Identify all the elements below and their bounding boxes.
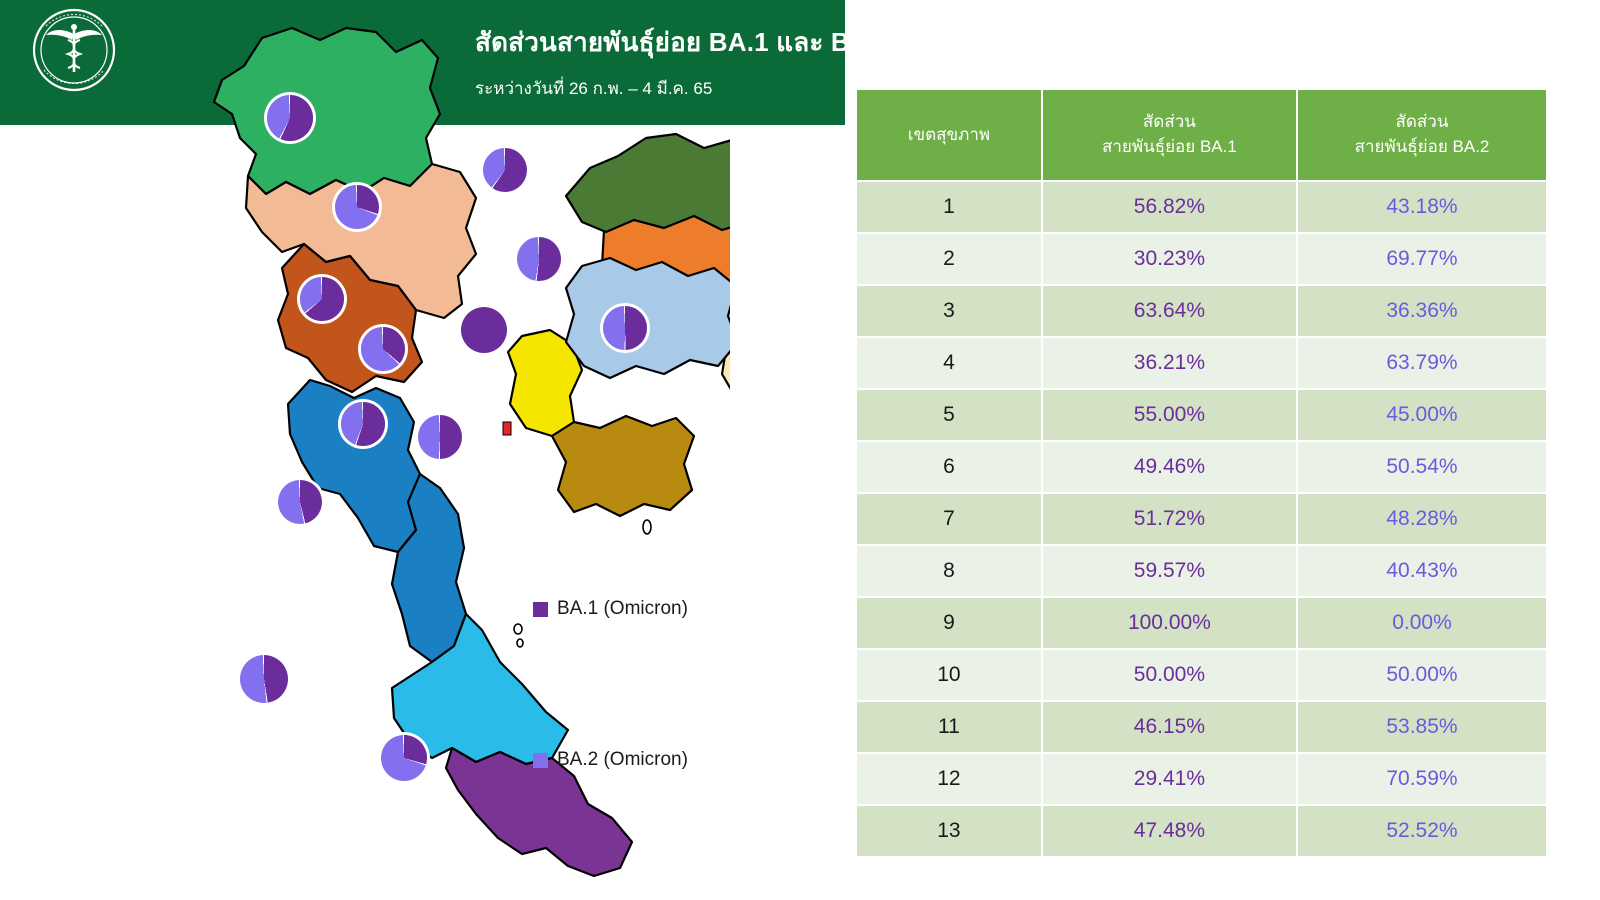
table-cell-zone: 7 (857, 494, 1041, 544)
pie-marker-zone-13 (240, 655, 288, 703)
slide-root: กรมวิทยาศาสตร์การแพทย์ Department of Med… (0, 0, 1600, 900)
table-row: 555.00%45.00% (857, 390, 1546, 440)
map-marker-red (503, 422, 511, 435)
table-cell-zone: 12 (857, 754, 1041, 804)
table-cell-zone: 9 (857, 598, 1041, 648)
pie-marker-zone-10 (418, 415, 462, 459)
map-island-1 (514, 624, 522, 634)
date-range-subtitle: ระหว่างวันที่ 26 ก.พ. – 4 มี.ค. 65 (475, 75, 1595, 102)
table-cell-zone: 2 (857, 234, 1041, 284)
table-cell-ba1: 63.64% (1043, 286, 1296, 336)
table-header-zone: เขตสุขภาพ (857, 90, 1041, 180)
table-header-ba2-line1: สัดส่วน (1302, 110, 1542, 135)
legend-item-ba1: BA.1 (Omicron) (533, 598, 688, 620)
title-block: สัดส่วนสายพันธุ์ย่อย BA.1 และ BA.2 แยกตา… (475, 22, 1595, 102)
table-row: 1146.15%53.85% (857, 702, 1546, 752)
table-row: 156.82%43.18% (857, 182, 1546, 232)
ministry-logo (10, 4, 138, 120)
pie-marker-zone-3 (300, 277, 344, 321)
table-cell-ba2: 43.18% (1298, 182, 1546, 232)
table-row: 1050.00%50.00% (857, 650, 1546, 700)
map-region-zone-9 (566, 258, 730, 378)
table-cell-ba1: 51.72% (1043, 494, 1296, 544)
table-cell-ba1: 59.57% (1043, 546, 1296, 596)
map-region-zone-1 (214, 28, 440, 194)
table-cell-zone: 1 (857, 182, 1041, 232)
table-cell-zone: 13 (857, 806, 1041, 856)
table-cell-ba2: 50.54% (1298, 442, 1546, 492)
pie-marker-zone-5 (341, 402, 385, 446)
table-row: 1229.41%70.59% (857, 754, 1546, 804)
table-header-ba2-line2: สายพันธุ์ย่อย BA.2 (1302, 135, 1542, 160)
map-island-2 (517, 639, 523, 647)
table-cell-zone: 5 (857, 390, 1041, 440)
table-row: 859.57%40.43% (857, 546, 1546, 596)
table-cell-zone: 8 (857, 546, 1041, 596)
table-header-ba1-line2: สายพันธุ์ย่อย BA.1 (1047, 135, 1292, 160)
table-header-ba2: สัดส่วน สายพันธุ์ย่อย BA.2 (1298, 90, 1546, 180)
pie-marker-zone-8 (483, 148, 527, 192)
table-cell-zone: 11 (857, 702, 1041, 752)
table-cell-zone: 4 (857, 338, 1041, 388)
pie-marker-zone-6 (603, 306, 647, 350)
table-cell-ba1: 36.21% (1043, 338, 1296, 388)
table-cell-ba2: 52.52% (1298, 806, 1546, 856)
table-cell-zone: 6 (857, 442, 1041, 492)
table-cell-ba1: 55.00% (1043, 390, 1296, 440)
table-cell-ba1: 56.82% (1043, 182, 1296, 232)
table-header-row: เขตสุขภาพ สัดส่วน สายพันธุ์ย่อย BA.1 สัด… (857, 90, 1546, 180)
table-cell-ba1: 100.00% (1043, 598, 1296, 648)
table-row: 363.64%36.36% (857, 286, 1546, 336)
legend-label-ba2: BA.2 (Omicron) (557, 749, 688, 771)
pie-marker-zone-12 (381, 735, 427, 781)
pie-marker-zone-9 (461, 307, 507, 353)
table-cell-ba2: 53.85% (1298, 702, 1546, 752)
table-cell-ba1: 47.48% (1043, 806, 1296, 856)
table-cell-ba1: 50.00% (1043, 650, 1296, 700)
proportion-table: เขตสุขภาพ สัดส่วน สายพันธุ์ย่อย BA.1 สัด… (855, 88, 1548, 858)
table-cell-ba1: 29.41% (1043, 754, 1296, 804)
pie-marker-zone-2 (335, 185, 379, 229)
table-body: 156.82%43.18%230.23%69.77%363.64%36.36%4… (857, 182, 1546, 856)
map-region-zone-8 (566, 134, 730, 234)
table-cell-ba2: 45.00% (1298, 390, 1546, 440)
legend-swatch-ba1 (533, 602, 548, 617)
map-region-zone-10 (552, 416, 694, 516)
table-row: 751.72%48.28% (857, 494, 1546, 544)
table-row: 649.46%50.54% (857, 442, 1546, 492)
legend-label-ba1: BA.1 (Omicron) (557, 598, 688, 620)
table-cell-ba2: 70.59% (1298, 754, 1546, 804)
table-row: 9100.00%0.00% (857, 598, 1546, 648)
table-cell-ba1: 30.23% (1043, 234, 1296, 284)
page-title: สัดส่วนสายพันธุ์ย่อย BA.1 และ BA.2 แยกตา… (475, 22, 1595, 63)
table-header-ba1: สัดส่วน สายพันธุ์ย่อย BA.1 (1043, 90, 1296, 180)
table-row: 230.23%69.77% (857, 234, 1546, 284)
pie-marker-zone-7 (517, 237, 561, 281)
table-cell-ba2: 36.36% (1298, 286, 1546, 336)
table-cell-ba2: 63.79% (1298, 338, 1546, 388)
table-cell-ba1: 46.15% (1043, 702, 1296, 752)
table-cell-ba2: 48.28% (1298, 494, 1546, 544)
table-row: 1347.48%52.52% (857, 806, 1546, 856)
table-cell-ba1: 49.46% (1043, 442, 1296, 492)
legend-item-ba2: BA.2 (Omicron) (533, 749, 688, 771)
proportion-table-wrapper: เขตสุขภาพ สัดส่วน สายพันธุ์ย่อย BA.1 สัด… (855, 88, 1548, 858)
table-row: 436.21%63.79% (857, 338, 1546, 388)
table-cell-ba2: 0.00% (1298, 598, 1546, 648)
table-cell-ba2: 69.77% (1298, 234, 1546, 284)
table-cell-zone: 10 (857, 650, 1041, 700)
pie-marker-zone-11 (278, 480, 322, 524)
pie-marker-zone-4 (361, 327, 405, 371)
legend-swatch-ba2 (533, 753, 548, 768)
map-island-3 (643, 520, 651, 534)
pie-marker-zone-1 (267, 95, 313, 141)
table-cell-ba2: 40.43% (1298, 546, 1546, 596)
table-header-ba1-line1: สัดส่วน (1047, 110, 1292, 135)
table-header-zone-line1: เขตสุขภาพ (861, 123, 1037, 148)
table-cell-ba2: 50.00% (1298, 650, 1546, 700)
table-cell-zone: 3 (857, 286, 1041, 336)
